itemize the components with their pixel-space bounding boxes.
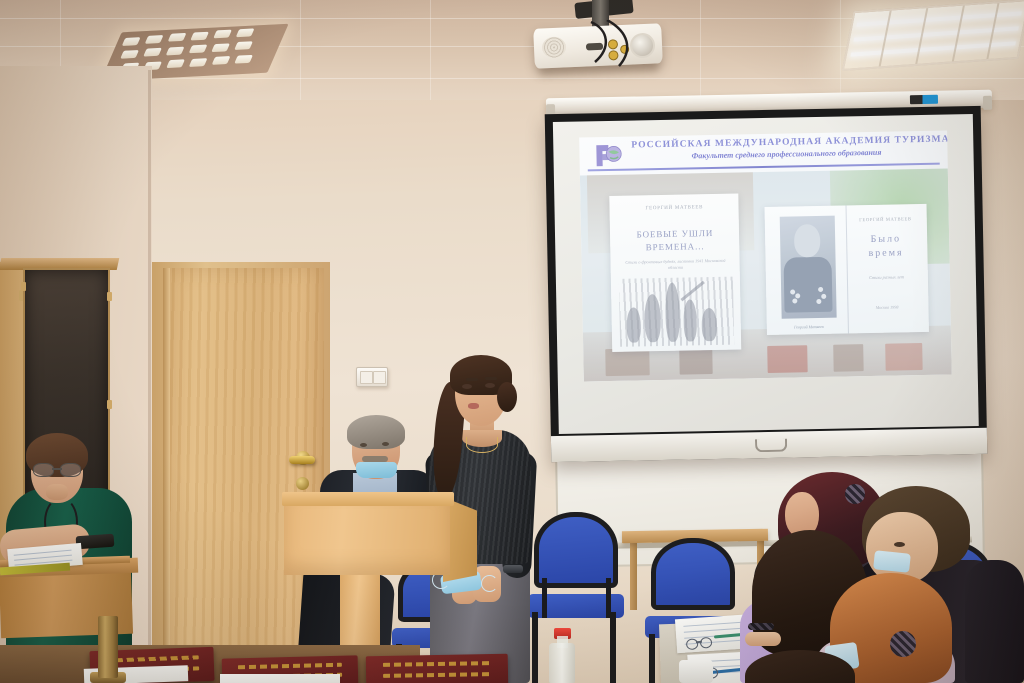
woman-eyeglasses [33, 463, 81, 475]
hair-scrunchie [845, 484, 865, 504]
projection-screen: РОССИЙСКАЯ МЕЖДУНАРОДНАЯ АКАДЕМИЯ ТУРИЗМ… [545, 106, 988, 462]
chair[interactable] [528, 512, 624, 683]
door-edge [163, 268, 170, 683]
desk-leg [630, 540, 637, 610]
book-right-title-line1: Было [849, 233, 922, 245]
book-left-title-line2: ВРЕМЕНА... [611, 241, 740, 253]
presentation-slide: РОССИЙСКАЯ МЕЖДУНАРОДНАЯ АКАДЕМИЯ ТУРИЗМ… [579, 130, 952, 381]
book-right-note: Стихи разных лет [850, 274, 923, 280]
water-bottle [549, 643, 575, 683]
book-right-author: ГЕОРГИЙ МАТВЕЕВ [849, 215, 922, 221]
classroom-photo-scene: РОССИЙСКАЯ МЕЖДУНАРОДНАЯ АКАДЕМИЯ ТУРИЗМ… [0, 0, 1024, 683]
portrait-head [794, 224, 821, 257]
screen-pull-handle[interactable] [755, 439, 787, 453]
audience-hand [745, 632, 781, 646]
mask-strap [481, 575, 498, 592]
slide-book-left: ГЕОРГИЙ МАТВЕЕВ БОЕВЫЕ УШЛИ ВРЕМЕНА... С… [610, 193, 742, 352]
portrait-body [783, 257, 832, 313]
projector-vent-icon [542, 36, 567, 58]
slide-book-right: Георгий Матвеев ГЕОРГИЙ МАТВЕЕВ Было вре… [765, 204, 929, 335]
screen-brand-label [910, 95, 938, 105]
display-book [366, 654, 509, 683]
door-handle[interactable] [289, 456, 315, 464]
bracelet [748, 623, 774, 630]
woman-phone [76, 534, 115, 550]
man-hair [347, 415, 405, 449]
book-right-title-line2: время [850, 247, 923, 259]
door-lock-icon[interactable] [296, 477, 309, 490]
presenter-ponytail [497, 382, 517, 412]
book-left-monument-art [619, 276, 734, 347]
book-right-city-year: Москва 1998 [851, 304, 924, 310]
light-switch-plate[interactable] [356, 367, 388, 387]
projector-cables [585, 20, 655, 70]
face-mask [873, 550, 911, 573]
man-chin-mask [356, 462, 397, 478]
book-left-author: ГЕОРГИЙ МАТВЕЕВ [610, 204, 739, 211]
presenter-wristwatch [503, 565, 523, 573]
academy-logo-icon [593, 142, 624, 170]
book-left-note: Стихи о фронтовых буднях, листовки 1941 … [621, 257, 729, 272]
book-pages [220, 674, 340, 683]
slide-photo-background: ГЕОРГИЙ МАТВЕЕВ БОЕВЫЕ УШЛИ ВРЕМЕНА... С… [580, 168, 952, 381]
white-mug [679, 660, 713, 683]
book-left-title-line1: БОЕВЫЕ УШЛИ [610, 228, 739, 240]
book-right-portrait [779, 216, 836, 319]
fluorescent-troffer-light [842, 0, 1024, 71]
presenter-necklace [466, 437, 498, 453]
lectern-front-panel [284, 503, 450, 575]
hair-scrunchie [890, 631, 916, 657]
eyeglasses [686, 637, 713, 649]
portrait-caption: Георгий Матвеев [781, 323, 836, 329]
lectern-top [282, 492, 454, 506]
projection-screen-surface: РОССИЙСКАЯ МЕЖДУНАРОДНАЯ АКАДЕМИЯ ТУРИЗМ… [553, 114, 979, 434]
wall-corner [148, 70, 151, 683]
book-right-spine [845, 205, 848, 333]
brass-shell-casing [98, 616, 118, 678]
